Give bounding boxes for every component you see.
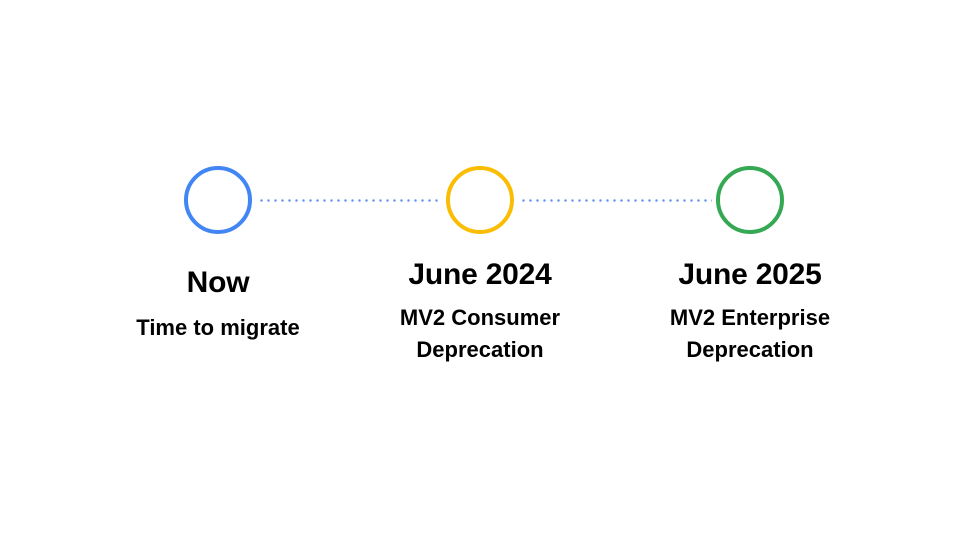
circle-outline-icon	[446, 166, 514, 234]
milestone-title: June 2024	[330, 258, 630, 292]
milestone-labels: June 2025 MV2 Enterprise Deprecation	[600, 258, 900, 366]
circle-outline-icon	[716, 166, 784, 234]
timeline-diagram: Now Time to migrate June 2024 MV2 Consum…	[0, 0, 960, 540]
circle-outline-icon	[184, 166, 252, 234]
milestone-title: Now	[68, 266, 368, 300]
timeline-milestone-now: Now Time to migrate	[68, 0, 368, 540]
milestone-subtitle: MV2 Consumer Deprecation	[330, 302, 630, 366]
milestone-subtitle: Time to migrate	[68, 312, 368, 344]
milestone-labels: June 2024 MV2 Consumer Deprecation	[330, 258, 630, 366]
milestone-title: June 2025	[600, 258, 900, 292]
milestone-labels: Now Time to migrate	[68, 266, 368, 344]
timeline-milestone-june-2025: June 2025 MV2 Enterprise Deprecation	[600, 0, 900, 540]
milestone-subtitle: MV2 Enterprise Deprecation	[600, 302, 900, 366]
timeline-milestone-june-2024: June 2024 MV2 Consumer Deprecation	[330, 0, 630, 540]
